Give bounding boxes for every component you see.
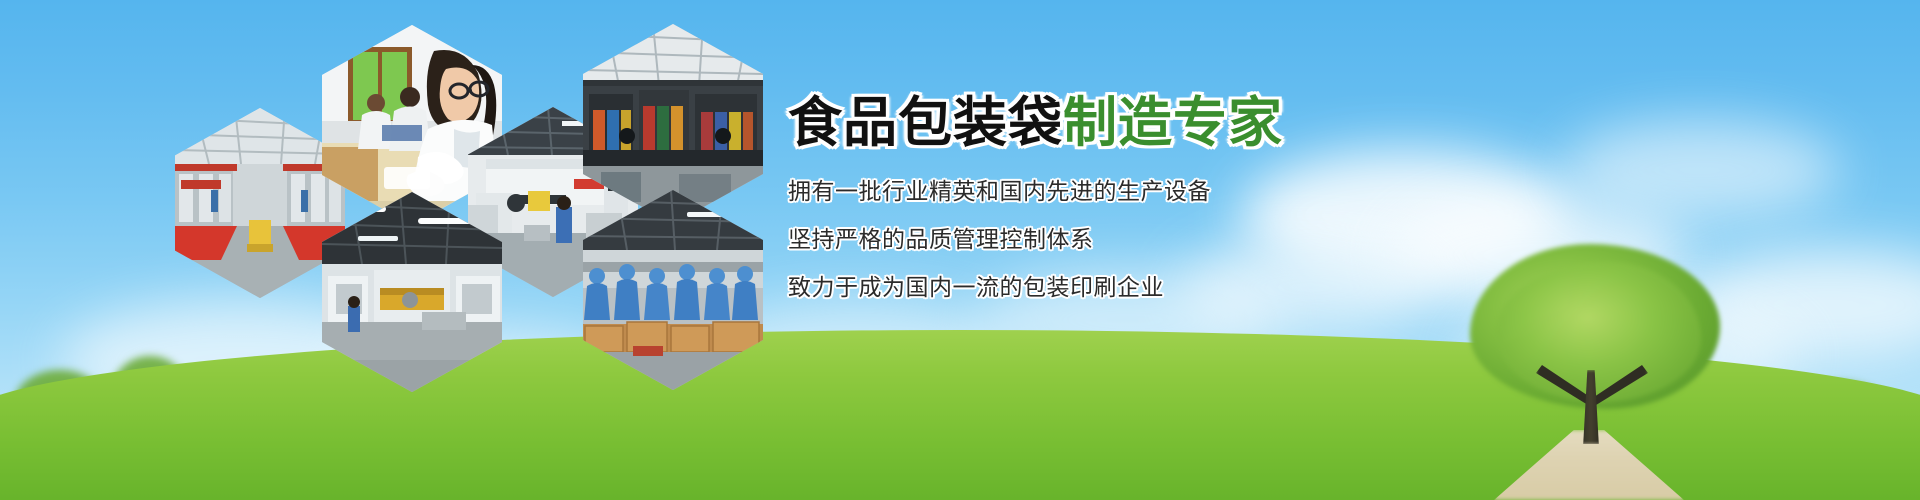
subtitle-line-3: 致力于成为国内一流的包装印刷企业	[788, 276, 1788, 299]
hexagon-photo-workshop-aisle	[175, 108, 345, 298]
subtitle-line-1: 拥有一批行业精英和国内先进的生产设备	[788, 180, 1788, 203]
subtitle-line-2: 坚持严格的品质管理控制体系	[788, 228, 1788, 251]
headline-dark-part: 食品包装袋	[788, 93, 1063, 153]
hero-banner: 食品包装袋制造专家 拥有一批行业精英和国内先进的生产设备 坚持严格的品质管理控制…	[0, 0, 1920, 500]
banner-copy: 食品包装袋制造专家 拥有一批行业精英和国内先进的生产设备 坚持严格的品质管理控制…	[788, 96, 1788, 324]
page-title: 食品包装袋制造专家	[788, 96, 1788, 150]
headline-green-part: 制造专家	[1063, 93, 1283, 153]
hexagon-photo-cluster	[0, 0, 820, 400]
